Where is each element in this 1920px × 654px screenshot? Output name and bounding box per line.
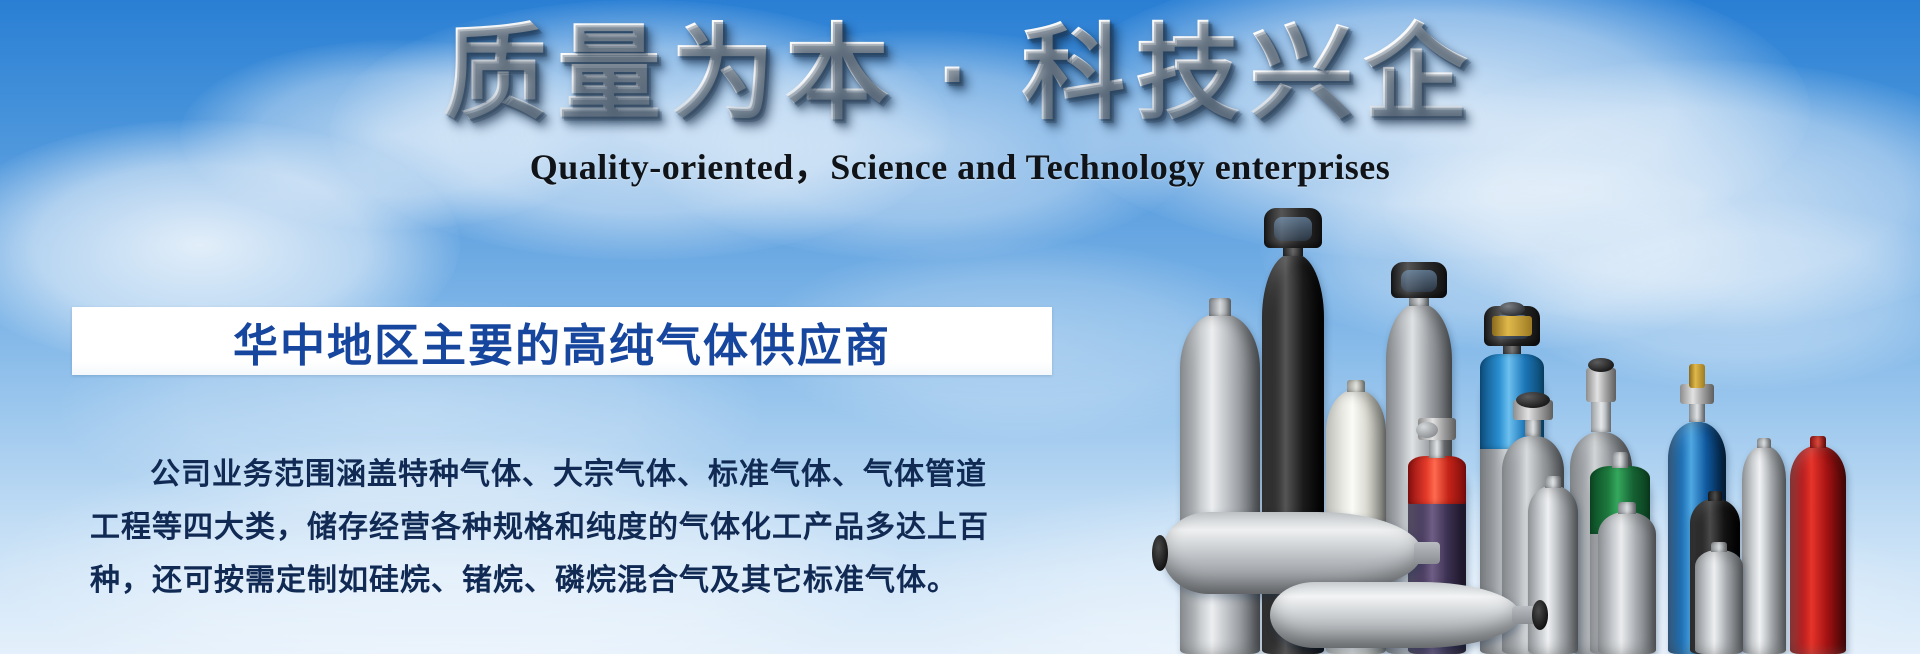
lying-grey-cylinder-2 (1270, 582, 1520, 648)
cylinder-handwheel (1499, 302, 1525, 316)
aluminium-cylinder (1695, 544, 1743, 654)
cylinder-band (1408, 456, 1466, 504)
paragraph-line: 工程等四大类，储存经营各种规格和纯度的气体化工产品多达上百 (90, 501, 995, 554)
banner-headline: 质量为本 · 科技兴企 (0, 16, 1920, 132)
aluminium-cylinder (1742, 439, 1786, 654)
gas-cylinder-group (1150, 154, 1920, 654)
promotional-banner: 质量为本 · 科技兴企 Quality-oriented，Science and… (0, 0, 1920, 654)
cylinder-handwheel (1532, 600, 1548, 629)
cylinder-valve-guard (1391, 262, 1447, 298)
cylinder-end-cap (1414, 542, 1440, 565)
cylinder-handwheel (1516, 392, 1550, 408)
banner-paragraph: 公司业务范围涵盖特种气体、大宗气体、标准气体、气体管道 工程等四大类，储存经营各… (90, 448, 995, 607)
slogan-box: 华中地区主要的高纯气体供应商 (72, 307, 1052, 375)
brass-valve (1492, 316, 1532, 336)
slogan-text: 华中地区主要的高纯气体供应商 (233, 309, 891, 374)
red-cylinder (1790, 439, 1846, 654)
paragraph-line: 种，还可按需定制如硅烷、锗烷、磷烷混合气及其它标准气体。 (90, 554, 995, 607)
cylinder-handwheel (1152, 535, 1168, 571)
brass-valve-cap (1689, 364, 1705, 388)
light-grey-cylinder (1180, 304, 1260, 654)
paragraph-line: 公司业务范围涵盖特种气体、大宗气体、标准气体、气体管道 (90, 448, 995, 501)
cylinder-handwheel (1588, 358, 1614, 372)
cylinder-valve-guard (1264, 208, 1322, 248)
headline-text: 质量为本 · 科技兴企 (433, 16, 1487, 132)
aluminium-cylinder (1598, 504, 1656, 654)
cylinder-handwheel (1416, 422, 1438, 438)
